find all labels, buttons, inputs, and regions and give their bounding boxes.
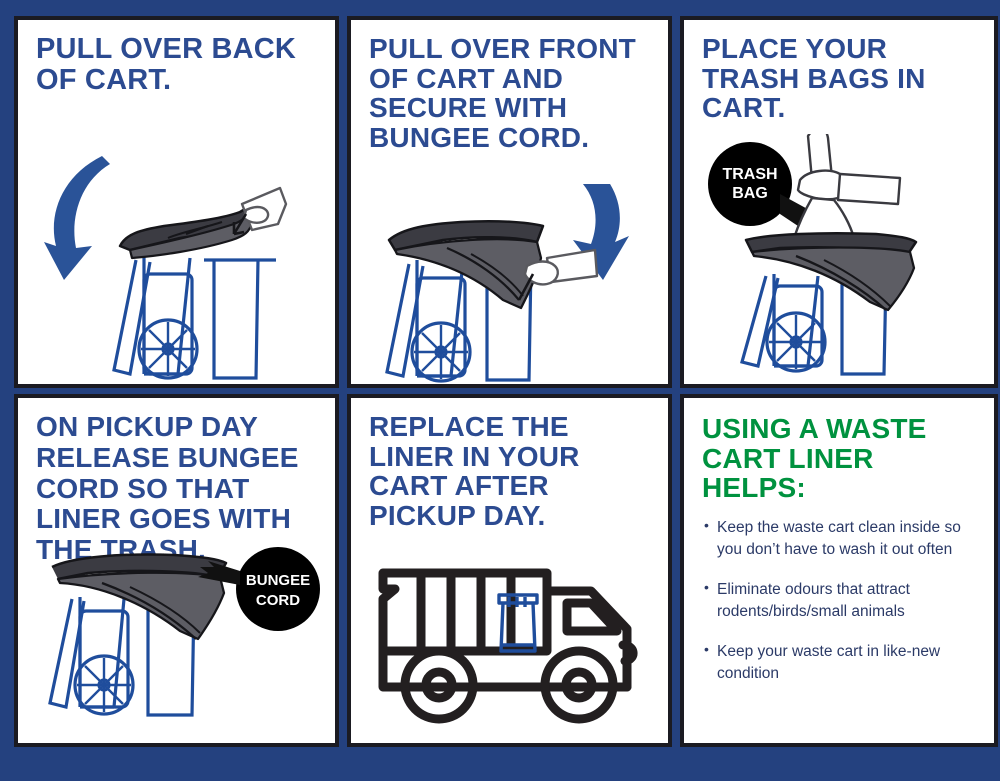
panel-replace-liner: REPLACE THE LINER IN YOUR CART AFTER PIC… (347, 394, 672, 747)
list-item: Keep the waste cart clean inside so you … (704, 517, 976, 561)
panel-title: USING A WASTE CART LINER HELPS: (684, 398, 994, 503)
svg-text:BUNGEE: BUNGEE (246, 572, 310, 589)
bungee-cord-callout-circle (236, 547, 320, 631)
illustration-cart-liner-front (351, 184, 668, 384)
panel-title: PULL OVER FRONT OF CART AND SECURE WITH … (351, 20, 668, 153)
panel-release-bungee-cord: ON PICKUP DAY RELEASE BUNGEE CORD SO THA… (14, 394, 339, 747)
list-item: Eliminate odours that attract rodents/bi… (704, 579, 976, 623)
panel-benefits: USING A WASTE CART LINER HELPS: Keep the… (680, 394, 998, 747)
illustration-garbage-truck (351, 533, 668, 743)
panel-grid: PULL OVER BACK OF CART. (14, 16, 986, 745)
benefits-list: Keep the waste cart clean inside so you … (684, 517, 994, 685)
list-item: Keep your waste cart in like-new conditi… (704, 641, 976, 685)
waste-cart-liner-infographic: PULL OVER BACK OF CART. (0, 0, 1000, 781)
svg-text:CORD: CORD (256, 592, 300, 609)
svg-text:BAG: BAG (732, 185, 768, 202)
trash-bag-callout-circle (708, 142, 792, 226)
illustration-cart-liner-back (18, 134, 335, 384)
illustration-trash-bag-in-cart: TRASH BAG (684, 134, 994, 384)
panel-place-trash-bags: PLACE YOUR TRASH BAGS IN CART. TRASH BAG (680, 16, 998, 388)
panel-title: PULL OVER BACK OF CART. (18, 20, 335, 95)
panel-title: REPLACE THE LINER IN YOUR CART AFTER PIC… (351, 398, 668, 531)
panel-pull-over-front: PULL OVER FRONT OF CART AND SECURE WITH … (347, 16, 672, 388)
svg-text:TRASH: TRASH (722, 166, 777, 183)
panel-pull-over-back: PULL OVER BACK OF CART. (14, 16, 339, 388)
panel-title: PLACE YOUR TRASH BAGS IN CART. (684, 20, 994, 123)
illustration-bungee-cord-release: BUNGEE CORD (18, 533, 335, 743)
